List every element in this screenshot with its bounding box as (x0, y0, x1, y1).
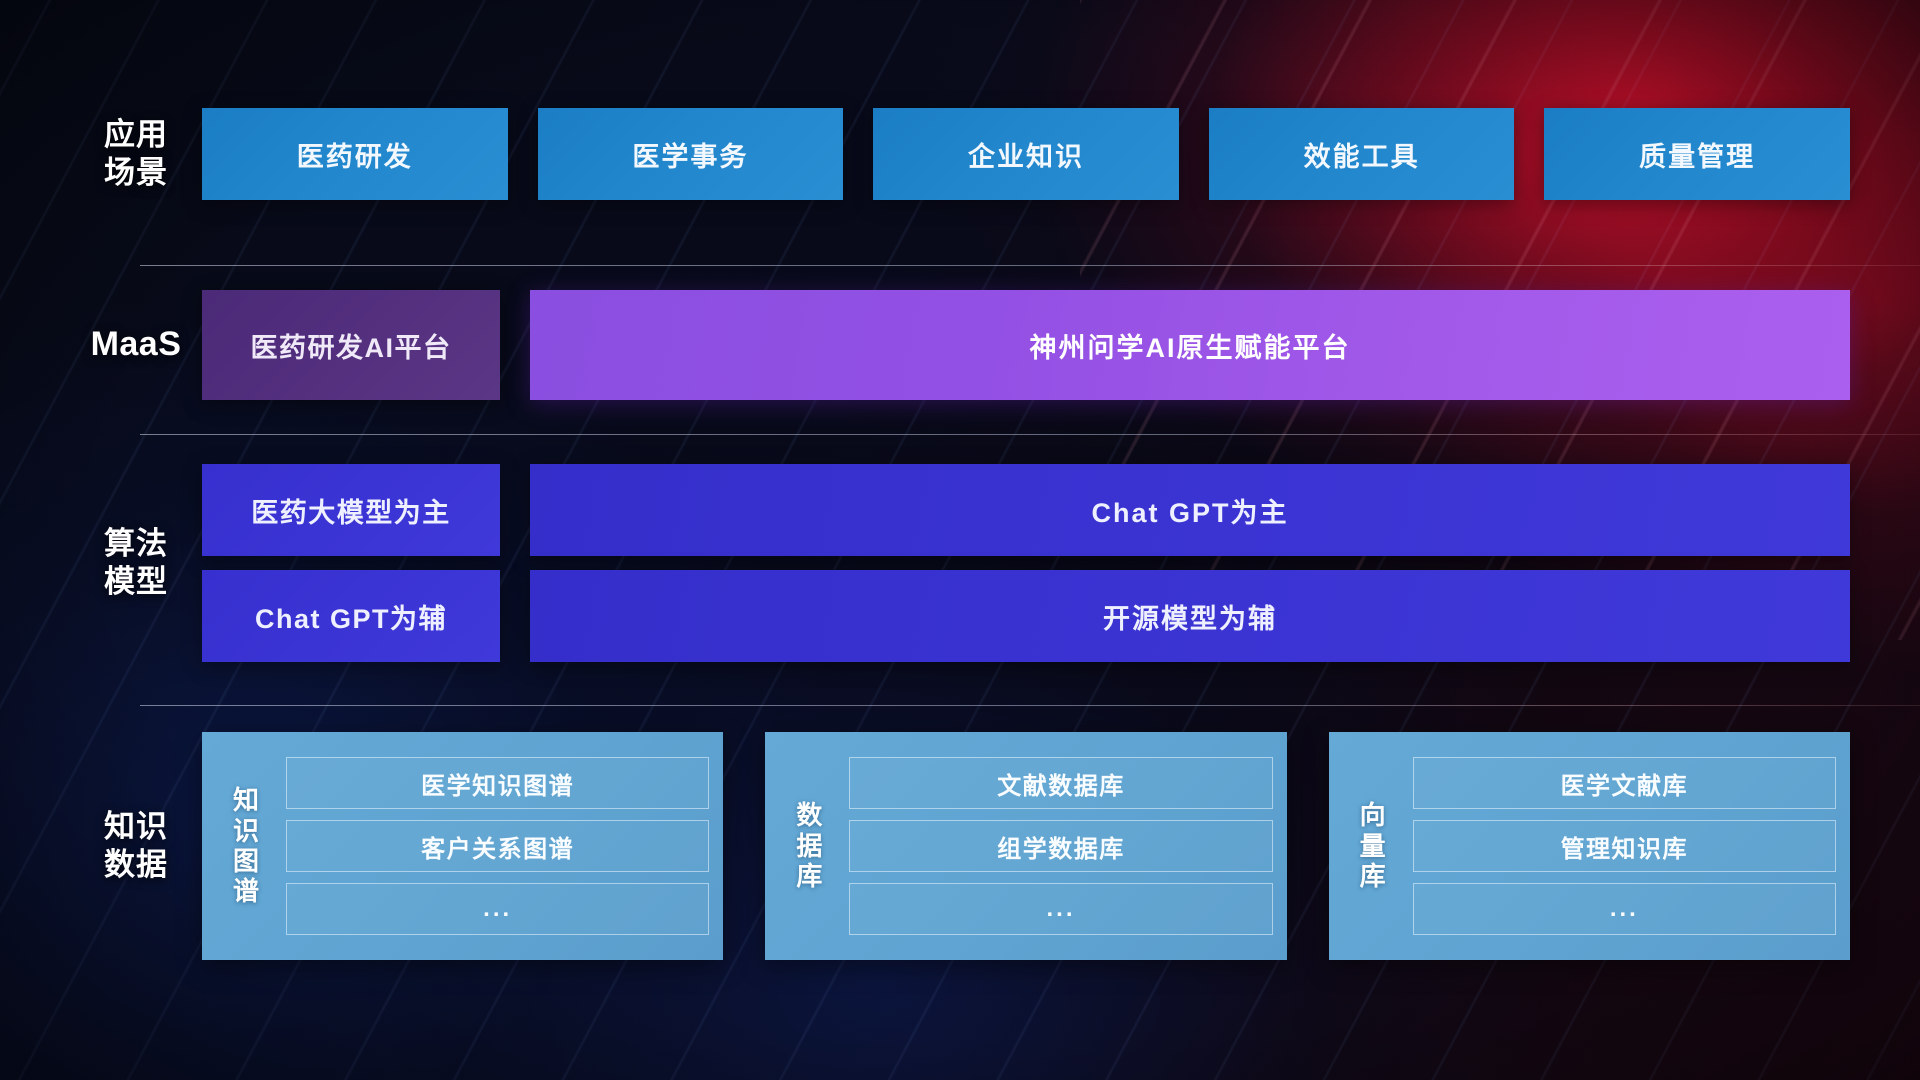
app-box-medical-affairs[interactable]: 医学事务 (538, 108, 844, 200)
algorithm-line-primary: 医药大模型为主 Chat GPT为主 (202, 464, 1850, 556)
algo-box-label: Chat GPT为主 (1091, 491, 1288, 530)
maas-box-label: 医药研发AI平台 (251, 326, 452, 365)
maas-list: 医药研发AI平台 神州问学AI原生赋能平台 (202, 290, 1850, 400)
knowledge-item-medical-literature-store[interactable]: 医学文献库 (1413, 757, 1836, 809)
row-label-knowledge-data: 知识 数据 (70, 808, 202, 884)
maas-box-label: 神州问学AI原生赋能平台 (1030, 326, 1351, 365)
knowledge-item-label: 医学文献库 (1561, 766, 1689, 801)
knowledge-item-more[interactable]: ... (1413, 883, 1836, 935)
app-box-label: 医学事务 (632, 135, 748, 174)
app-box-quality-management[interactable]: 质量管理 (1544, 108, 1850, 200)
knowledge-item-label: ... (1046, 895, 1075, 923)
row-body-application-scenarios: 医药研发 医学事务 企业知识 效能工具 质量管理 (202, 108, 1850, 200)
app-box-label: 效能工具 (1304, 135, 1420, 174)
knowledge-panel-list: 知 识 图 谱 医学知识图谱 客户关系图谱 ... (202, 732, 1850, 960)
architecture-diagram: 应用 场景 医药研发 医学事务 企业知识 效能工具 (70, 0, 1850, 1080)
knowledge-panel-database[interactable]: 数 据 库 文献数据库 组学数据库 ... (765, 732, 1286, 960)
knowledge-item-medical-knowledge-graph[interactable]: 医学知识图谱 (286, 757, 709, 809)
knowledge-item-list: 医学知识图谱 客户关系图谱 ... (286, 757, 709, 935)
row-application-scenarios: 应用 场景 医药研发 医学事务 企业知识 效能工具 (70, 108, 1850, 200)
knowledge-item-label: 客户关系图谱 (421, 829, 574, 864)
knowledge-panel-knowledge-graph[interactable]: 知 识 图 谱 医学知识图谱 客户关系图谱 ... (202, 732, 723, 960)
knowledge-item-customer-relation-graph[interactable]: 客户关系图谱 (286, 820, 709, 872)
algo-box-pharma-llm-primary[interactable]: 医药大模型为主 (202, 464, 500, 556)
maas-box-pharma-ai-platform[interactable]: 医药研发AI平台 (202, 290, 500, 400)
knowledge-item-label: ... (1610, 895, 1639, 923)
app-box-pharma-rnd[interactable]: 医药研发 (202, 108, 508, 200)
algo-box-chatgpt-primary[interactable]: Chat GPT为主 (530, 464, 1850, 556)
knowledge-panel-vertical-label: 知 识 图 谱 (220, 785, 272, 907)
row-knowledge-data: 知识 数据 知 识 图 谱 医学知识图谱 客户关系图谱 (70, 732, 1850, 960)
row-body-knowledge-data: 知 识 图 谱 医学知识图谱 客户关系图谱 ... (202, 732, 1850, 960)
knowledge-item-literature-database[interactable]: 文献数据库 (849, 757, 1272, 809)
knowledge-item-list: 医学文献库 管理知识库 ... (1413, 757, 1836, 935)
algo-box-label: Chat GPT为辅 (255, 597, 447, 636)
row-label-algorithm-models: 算法 模型 (70, 525, 202, 601)
maas-box-shenzhou-wenxue-platform[interactable]: 神州问学AI原生赋能平台 (530, 290, 1850, 400)
row-algorithm-models: 算法 模型 医药大模型为主 Chat GPT为主 Chat GPT为辅 (70, 464, 1850, 662)
diagram-canvas: 应用 场景 医药研发 医学事务 企业知识 效能工具 (0, 0, 1920, 1080)
knowledge-item-list: 文献数据库 组学数据库 ... (849, 757, 1272, 935)
app-box-label: 质量管理 (1639, 135, 1755, 174)
knowledge-item-label: 组学数据库 (997, 829, 1125, 864)
divider-after-maas (140, 434, 1920, 435)
row-maas: MaaS 医药研发AI平台 神州问学AI原生赋能平台 (70, 290, 1850, 400)
algorithm-line-secondary: Chat GPT为辅 开源模型为辅 (202, 570, 1850, 662)
knowledge-item-more[interactable]: ... (286, 883, 709, 935)
knowledge-panel-vector-store[interactable]: 向 量 库 医学文献库 管理知识库 ... (1329, 732, 1850, 960)
application-scenario-list: 医药研发 医学事务 企业知识 效能工具 质量管理 (202, 108, 1850, 200)
divider-after-algorithm-models (140, 705, 1920, 706)
knowledge-panel-vertical-label: 数 据 库 (783, 800, 835, 891)
algorithm-model-list: 医药大模型为主 Chat GPT为主 Chat GPT为辅 开源模型为辅 (202, 464, 1850, 662)
knowledge-panel-vertical-label: 向 量 库 (1347, 800, 1399, 891)
knowledge-item-label: 医学知识图谱 (421, 766, 574, 801)
row-body-algorithm-models: 医药大模型为主 Chat GPT为主 Chat GPT为辅 开源模型为辅 (202, 464, 1850, 662)
app-box-enterprise-knowledge[interactable]: 企业知识 (873, 108, 1179, 200)
algo-box-opensource-secondary[interactable]: 开源模型为辅 (530, 570, 1850, 662)
row-label-maas: MaaS (70, 324, 202, 365)
algo-box-label: 医药大模型为主 (251, 491, 451, 530)
row-label-application-scenarios: 应用 场景 (70, 116, 202, 192)
algo-box-label: 开源模型为辅 (1103, 597, 1277, 636)
knowledge-item-label: ... (483, 895, 512, 923)
knowledge-item-omics-database[interactable]: 组学数据库 (849, 820, 1272, 872)
knowledge-item-label: 管理知识库 (1561, 829, 1689, 864)
app-box-label: 医药研发 (297, 135, 413, 174)
app-box-label: 企业知识 (968, 135, 1084, 174)
knowledge-item-label: 文献数据库 (997, 766, 1125, 801)
algo-box-chatgpt-secondary[interactable]: Chat GPT为辅 (202, 570, 500, 662)
app-box-efficiency-tools[interactable]: 效能工具 (1209, 108, 1515, 200)
knowledge-item-more[interactable]: ... (849, 883, 1272, 935)
row-body-maas: 医药研发AI平台 神州问学AI原生赋能平台 (202, 290, 1850, 400)
knowledge-item-management-knowledge-store[interactable]: 管理知识库 (1413, 820, 1836, 872)
divider-after-application-scenarios (140, 265, 1920, 266)
